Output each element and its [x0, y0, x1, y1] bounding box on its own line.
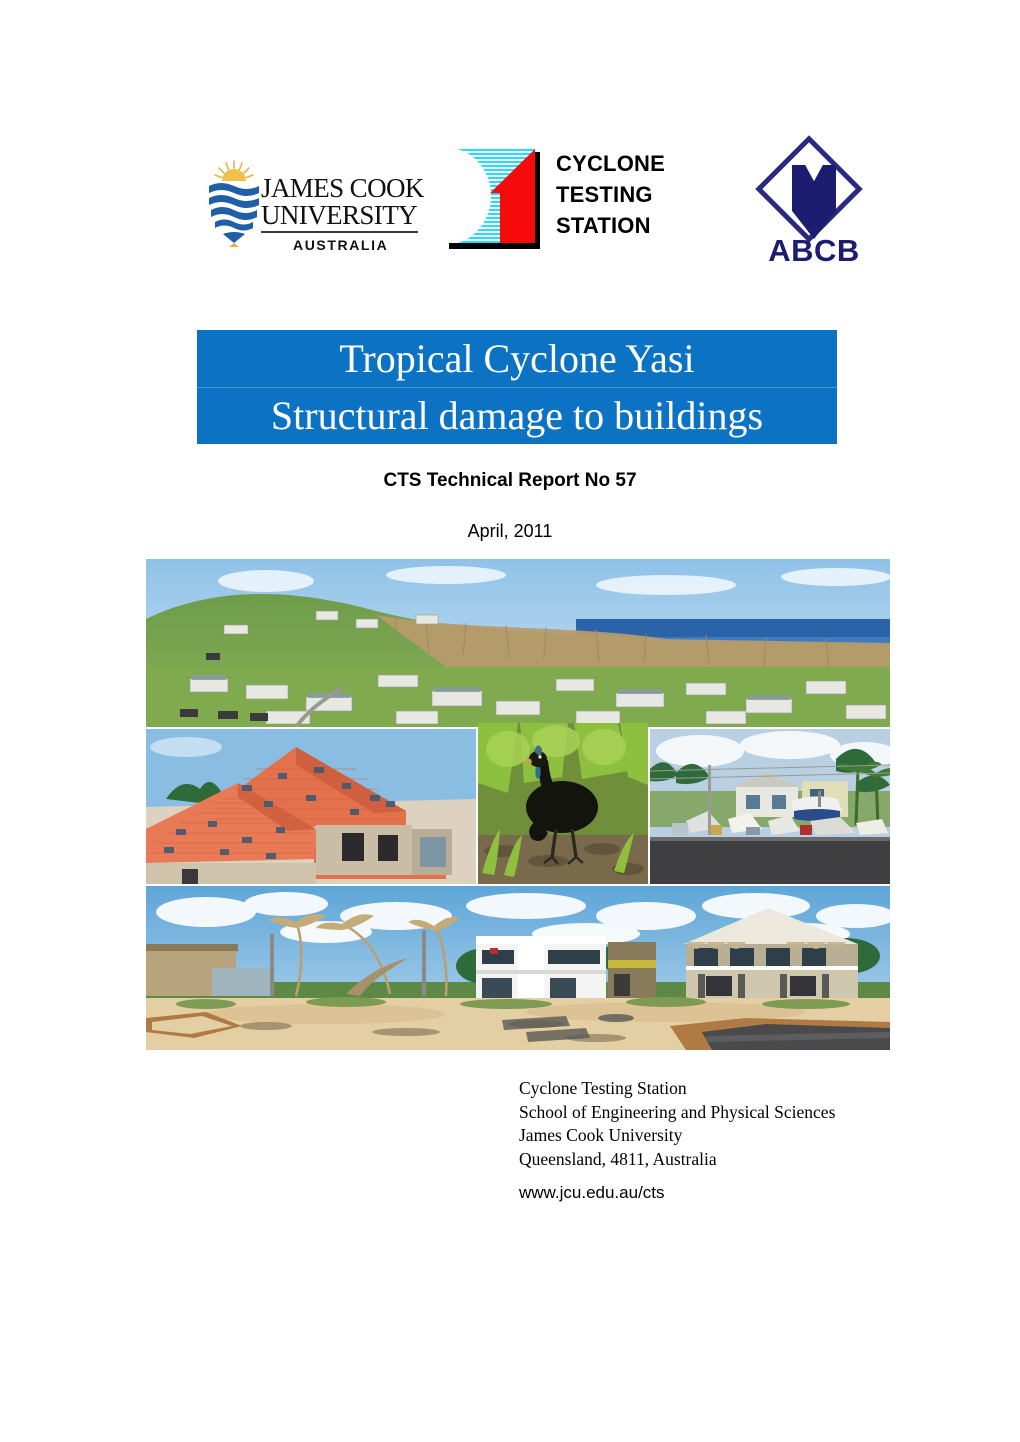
jcu-crest-icon	[205, 159, 263, 251]
jcu-line-2: UNIVERSITY	[261, 202, 421, 229]
cts-word-line-3: STATION	[556, 210, 665, 241]
cts-right-rule	[535, 152, 540, 249]
title-line-1: Tropical Cyclone Yasi	[197, 330, 837, 387]
title-banner: Tropical Cyclone Yasi Structural damage …	[197, 330, 837, 444]
photo-beach-erosion-with-buildings	[146, 886, 890, 1050]
photo-damaged-tile-roof-house	[146, 729, 476, 884]
cts-baseline-rule	[449, 243, 537, 249]
cyclone-testing-station-mark-icon	[447, 149, 542, 257]
abcb-label: ABCB	[762, 233, 866, 269]
address-line-2: School of Engineering and Physical Scien…	[519, 1101, 835, 1125]
photo-cassowary-in-vegetation	[478, 723, 648, 884]
report-date: April, 2011	[0, 521, 1020, 542]
photo-street-debris-and-boats	[650, 729, 890, 884]
title-line-2: Structural damage to buildings	[197, 387, 837, 444]
address-line-1: Cyclone Testing Station	[519, 1077, 835, 1101]
jcu-wordmark: JAMES COOK UNIVERSITY AUSTRALIA	[261, 175, 421, 253]
report-number: CTS Technical Report No 57	[0, 470, 1020, 492]
jcu-line-1: JAMES COOK	[261, 175, 421, 202]
address-block: Cyclone Testing Station School of Engine…	[519, 1077, 835, 1171]
photo-panorama-damaged-coastal-township	[146, 559, 890, 727]
abcb-logo: ABCB	[762, 149, 872, 269]
cts-word-line-2: TESTING	[556, 179, 665, 210]
website-url[interactable]: www.jcu.edu.au/cts	[519, 1183, 665, 1203]
address-line-3: James Cook University	[519, 1124, 835, 1148]
address-line-4: Queensland, 4811, Australia	[519, 1148, 835, 1172]
cts-word-line-1: CYCLONE	[556, 148, 665, 179]
james-cook-university-logo: JAMES COOK UNIVERSITY AUSTRALIA	[205, 157, 420, 257]
jcu-divider	[261, 231, 418, 233]
cover-photo-montage	[146, 559, 890, 1050]
logo-bar: JAMES COOK UNIVERSITY AUSTRALIA CYCLONE …	[0, 140, 1020, 285]
cyclone-testing-station-wordmark: CYCLONE TESTING STATION	[556, 148, 665, 241]
jcu-country-label: AUSTRALIA	[261, 237, 421, 253]
